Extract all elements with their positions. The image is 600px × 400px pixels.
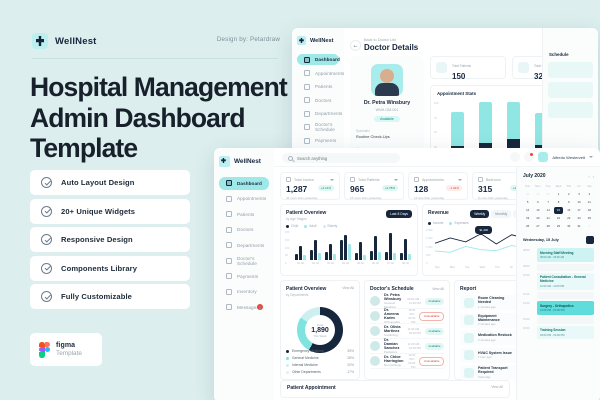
toggle-monthly[interactable]: Monthly	[491, 210, 511, 218]
toggle-weekly[interactable]: Weekly	[470, 210, 489, 218]
breadcrumb[interactable]: Back to Doctor List	[364, 38, 418, 42]
chevron-down-icon[interactable]	[458, 179, 462, 181]
feature-item-2: Responsive Design	[30, 227, 190, 252]
event-title: Patient Consultation - General Medicine	[540, 275, 591, 283]
weekday-label: Sat	[585, 183, 594, 190]
wellnest-logo-icon	[297, 36, 306, 45]
kpi-value: 965	[350, 184, 364, 194]
doctor-specialty: Specialist Routine Check-Ups	[356, 129, 418, 140]
wrench-icon	[464, 315, 474, 325]
calendar-day[interactable]: 30	[564, 223, 573, 230]
doctor-avatar	[371, 64, 403, 96]
calendar-day[interactable]: 16	[564, 207, 573, 214]
schedule-rail-item[interactable]	[548, 102, 593, 118]
doctor-name: Dr. Ameena Karim	[384, 308, 400, 320]
panel-subtitle: by Age Stages	[286, 217, 326, 221]
bar-adult	[299, 246, 302, 260]
schedule-row[interactable]: Dr. Olivia Martinez Cardiology 11:00 AM …	[370, 324, 444, 339]
calendar-day[interactable]: 8	[554, 199, 563, 206]
stethoscope-icon	[304, 97, 310, 103]
axis-tick: Thu	[495, 266, 499, 269]
view-all-link[interactable]: View All	[432, 287, 444, 291]
specialty-value: Routine Check-Ups	[356, 134, 418, 140]
schedule-time: 11:00 AM - 01:00 PM	[407, 342, 421, 350]
bar-group: 02 Jul	[310, 226, 321, 265]
clipboard-icon	[518, 62, 529, 73]
clock-icon	[226, 258, 232, 264]
sidebar-item-label: Departments	[315, 111, 342, 116]
revenue-line-area: SunMonTueWedThuFriSat $1,400	[435, 227, 527, 265]
report-time: 3 minutes ago	[478, 338, 512, 342]
kpi-label: Total Invoice	[294, 178, 314, 182]
calendar-day[interactable]: 10	[574, 199, 583, 206]
bar-elderly	[363, 255, 366, 260]
sidebar-item-label: Doctors	[237, 227, 254, 232]
timeline-time: 09:00	[523, 264, 534, 268]
users-icon	[304, 84, 310, 90]
event-title: Surgery - Orthopedics	[540, 304, 591, 308]
feature-item-1: 20+ Unique Widgets	[30, 199, 190, 224]
figma-template-badge[interactable]: figma Template	[30, 333, 102, 366]
sidebar-item-label: Messages	[237, 305, 259, 310]
schedule-time: 09:00 AM - 12:00 PM	[407, 297, 421, 305]
calendar-event[interactable]: Surgery - Orthopedics 12:00 PM - 01:00 P…	[537, 301, 594, 315]
avatar	[370, 356, 380, 366]
panel-title: Patient Overview	[286, 210, 326, 216]
stat-card-total-patients: Total Patients 150	[430, 56, 506, 79]
slice-name: Internal Medicine	[292, 363, 318, 367]
bar-label: 07 Jul	[387, 262, 394, 265]
slice-name: General Medicine	[292, 356, 319, 360]
kpi-trend-badge: +3.78%	[382, 185, 398, 191]
event-time: 02:00 PM - 03:00 PM	[540, 334, 591, 337]
avatar	[370, 326, 380, 336]
bar-adult	[344, 235, 347, 261]
report-time: Yesterday	[478, 375, 516, 379]
bar-label: 02 Jul	[312, 262, 319, 265]
event-title: Morning Staff Meeting	[540, 251, 591, 255]
sidebar-item-doctors[interactable]: Doctors	[219, 224, 269, 237]
bar-group: 05 Jul	[355, 226, 366, 265]
calendar-day[interactable]: 2	[564, 191, 573, 198]
bar-group: 06 Jul	[370, 226, 381, 265]
chevron-down-icon[interactable]	[394, 179, 398, 181]
avatar	[370, 296, 380, 306]
avatar[interactable]	[538, 152, 548, 162]
timeline-row: 12:00 Surgery - Orthopedics 12:00 PM - 0…	[523, 301, 594, 315]
doctor-name: Dr. Petra Winsbury	[384, 293, 403, 301]
legend-item: Expenses	[449, 221, 468, 225]
event-timeline: 08:00 Morning Staff Meeting 08:00 AM - 0…	[523, 248, 594, 339]
panel-title: Doctor's Schedule	[370, 286, 414, 292]
doctor-details-title: Doctor Details	[364, 43, 418, 52]
calendar-event[interactable]	[537, 292, 594, 299]
bar-label: 05 Jul	[357, 262, 364, 265]
doctor-name: Dr. Damian Sanchez	[384, 338, 403, 350]
add-event-icon[interactable]	[586, 236, 594, 244]
sidebar-item-label: Dashboard	[315, 57, 340, 62]
calendar-event[interactable]	[537, 317, 594, 324]
timeline-time: 12:00	[523, 301, 534, 305]
feature-label: 20+ Unique Widgets	[61, 207, 135, 216]
donut-legend-row: General Medicine 28%	[286, 356, 354, 360]
calendar-day[interactable]: 24	[574, 215, 583, 222]
calendar-day[interactable]: 19	[523, 215, 532, 222]
doctor-name: Dr. Olivia Martinez	[384, 325, 402, 333]
kpi-trend-badge: -1.04%	[446, 185, 462, 191]
topbar: Alfredo Westervelt	[274, 148, 600, 167]
transport-icon	[464, 368, 474, 378]
sidebar-item-departments[interactable]: Departments	[297, 108, 339, 119]
status-badge: Available	[425, 328, 444, 335]
bar-group: 08 Jul	[400, 226, 411, 265]
search-icon	[288, 156, 293, 161]
weekday-label: Fri	[574, 183, 583, 190]
sidebar-item-departments[interactable]: Departments	[219, 239, 269, 252]
panel-subtitle: by Departments	[286, 293, 326, 297]
panel-title: Revenue	[428, 210, 449, 216]
sidebar-item-label: Dashboard	[237, 181, 262, 186]
weekday-label: Tue	[544, 183, 553, 190]
sidebar-item-patients[interactable]: Patients	[219, 208, 269, 221]
kpi-label: Bedroom	[486, 178, 501, 182]
calendar-day[interactable]: 21	[544, 215, 553, 222]
bar-group: 07 Jul	[385, 226, 396, 265]
dashboard-sidebar: WellNest Dashboard Appointments Patients…	[214, 148, 274, 400]
schedule-rail-title: Schedule	[549, 52, 598, 57]
sidebar-item-label: Appointments	[237, 196, 266, 201]
grid-icon	[304, 57, 310, 63]
bar-elderly	[333, 254, 336, 260]
view-all-link[interactable]: View All	[342, 286, 354, 290]
calendar-icon	[304, 70, 310, 76]
calendar-day[interactable]: 4	[585, 191, 594, 198]
chevron-down-icon[interactable]	[330, 179, 334, 181]
bar-elderly	[408, 254, 411, 260]
user-name: Alfredo Westervelt	[552, 155, 585, 160]
box-icon	[226, 289, 232, 295]
avatar	[370, 311, 380, 321]
schedule-row[interactable]: Dr. Damian Sanchez Pediatrics 11:00 AM -…	[370, 339, 444, 354]
sidebar-item-doctors[interactable]: Doctors	[297, 95, 339, 106]
calendar-day[interactable]: 15	[554, 207, 563, 214]
calendar-day[interactable]: 9	[564, 199, 573, 206]
status-badge: Unavailable	[419, 312, 444, 321]
calendar-day[interactable]: 26	[523, 223, 532, 230]
calendar-day[interactable]: 5	[523, 199, 532, 206]
patient-appointment-section: Patient Appointment View All	[280, 380, 510, 398]
wellnest-logo-icon	[32, 33, 48, 49]
grid-icon	[226, 180, 232, 186]
timeline-row: 01:00	[523, 317, 594, 324]
report-title: Medication Restock	[478, 333, 512, 337]
timeline-row: 08:00 Morning Staff Meeting 08:00 AM - 0…	[523, 248, 594, 262]
status-badge: Available	[425, 343, 444, 350]
doctor-name: Dr. Petra Winsbury	[350, 100, 424, 106]
calendar-event[interactable]: Training Session 02:00 PM - 03:00 PM	[537, 326, 594, 340]
sidebar-item-doctor-s-schedule[interactable]: Doctor's Schedule	[297, 122, 339, 133]
kpi-card-2: Appointments 128 -1.04% 12 less than yes…	[408, 172, 468, 200]
status-badge: Available	[425, 298, 444, 305]
stat-label: Total Patients	[452, 64, 471, 68]
check-circle-icon	[41, 291, 52, 302]
figma-title: figma	[56, 342, 82, 349]
axis-tick: Wed	[480, 266, 485, 269]
bar-elderly	[393, 253, 396, 260]
schedule-rail-item[interactable]	[548, 62, 593, 78]
donut-center-sub: This Week	[311, 334, 329, 338]
sidebar-item-appointments[interactable]: Appointments	[297, 68, 339, 79]
calendar-day[interactable]: 27	[533, 223, 542, 230]
card-icon	[304, 138, 310, 144]
view-all-link[interactable]: View All	[491, 385, 503, 389]
next-month-icon[interactable]: ›	[593, 174, 594, 179]
bar-child	[370, 251, 373, 260]
specialty-label: Specialist	[356, 129, 418, 133]
axis-tick: Sun	[435, 266, 440, 269]
calendar-event[interactable]	[537, 264, 594, 271]
kpi-label: Total Patients	[358, 178, 380, 182]
brand-name: WellNest	[55, 36, 97, 47]
sidebar-item-messages[interactable]: Messages 3	[219, 301, 269, 314]
calendar-day[interactable]: 1	[585, 223, 594, 230]
bar-label: 08 Jul	[402, 262, 409, 265]
calendar-day[interactable]: 28	[544, 223, 553, 230]
slice-pct: 28%	[347, 356, 354, 360]
calendar-day[interactable]: 6	[533, 199, 542, 206]
sidebar-item-appointments[interactable]: Appointments	[219, 193, 269, 206]
axis-tick: Fri	[510, 266, 513, 269]
kpi-icon	[350, 177, 355, 182]
back-button[interactable]: ←	[350, 40, 361, 51]
sidebar-item-label: Payments	[237, 274, 258, 279]
schedule-row[interactable]: Dr. Chloe Harrington Dermatology 12:00 P…	[370, 354, 444, 369]
kpi-icon	[286, 177, 291, 182]
slice-pct: 20%	[347, 363, 354, 367]
weekday-label: Mon	[533, 183, 542, 190]
feature-item-3: Components Library	[30, 256, 190, 281]
timeline-row: 09:00	[523, 264, 594, 271]
sidebar-item-payments[interactable]: Payments	[297, 135, 339, 146]
bar-child	[355, 253, 358, 260]
search-input[interactable]	[297, 156, 387, 161]
event-title: Training Session	[540, 328, 591, 332]
calendar-event[interactable]: Morning Staff Meeting 08:00 AM - 09:00 A…	[537, 248, 594, 262]
divider	[32, 58, 278, 59]
feature-label: Responsive Design	[61, 235, 133, 244]
bar-group: 03 Jul	[325, 226, 336, 265]
bar-child	[310, 250, 313, 260]
bar-child	[295, 254, 298, 260]
calendar-day[interactable]: 1	[554, 191, 563, 198]
bar-adult	[374, 236, 377, 260]
calendar-day[interactable]: 12	[523, 207, 532, 214]
avatar	[370, 341, 380, 351]
bar-elderly	[348, 244, 351, 260]
figma-subtitle: Template	[56, 350, 82, 357]
calendar-day[interactable]: 22	[554, 215, 563, 222]
building-icon	[226, 242, 232, 248]
check-circle-icon	[41, 177, 52, 188]
report-title: Patient Transport Required	[478, 366, 516, 374]
doctor-dept: Dermatology	[384, 363, 403, 367]
calendar-day[interactable]: 3	[574, 191, 583, 198]
bar-label: 04 Jul	[342, 262, 349, 265]
kpi-sub: 15 more than yesterday	[350, 196, 398, 200]
doctor-dept: Cardiology	[384, 333, 402, 337]
calendar-day-header: Wednesday, 15 July	[523, 236, 594, 244]
calendar-day[interactable]: 11	[585, 199, 594, 206]
sidebar-item-inventory[interactable]: Inventory	[219, 286, 269, 299]
building-icon	[304, 111, 310, 117]
kpi-sub: 45 more than yesterday	[286, 196, 334, 200]
schedule-time: 11:00 AM - 02:00 PM	[406, 327, 421, 335]
timeline-row: 02:00 Training Session 02:00 PM - 03:00 …	[523, 326, 594, 340]
timeline-time: 08:00	[523, 248, 534, 252]
bar-child	[325, 252, 328, 260]
legend-item: Income	[428, 221, 443, 225]
sidebar-brand: WellNest	[310, 38, 334, 44]
event-time: 08:00 AM - 09:00 AM	[540, 256, 591, 259]
prev-month-icon[interactable]: ‹	[588, 174, 589, 179]
bar-adult	[329, 244, 332, 260]
kpi-card-1: Total Patients 965 +3.78% 15 more than y…	[344, 172, 404, 200]
chart-annotation: $1,400	[475, 226, 492, 234]
calendar-day[interactable]: 17	[574, 207, 583, 214]
search-box[interactable]	[282, 153, 400, 163]
panel-title: Patient Appointment	[287, 385, 336, 391]
doctor-dept: Orthopedics	[384, 320, 400, 324]
timeline-time: 10:00	[523, 273, 534, 277]
bar-label: 03 Jul	[327, 262, 334, 265]
schedule-time: 12:00 PM - 03:00 PM	[407, 353, 415, 369]
calendar-header: July 2020 ‹ ›	[523, 173, 594, 179]
report-time: 1 minutes ago	[478, 305, 516, 309]
timeline-time: 02:00	[523, 326, 534, 330]
broom-icon	[464, 298, 474, 308]
bar-group: 04 Jul	[340, 226, 351, 265]
slice-name: Other Departments	[292, 370, 321, 374]
doctors-schedule-panel: Doctor's Schedule View All Dr. Petra Win…	[364, 280, 450, 380]
bar-label: 01 Jul	[297, 262, 304, 265]
bar-elderly	[318, 253, 321, 260]
calendar-month: July 2020	[523, 173, 546, 179]
chevron-down-icon[interactable]	[589, 156, 593, 158]
doctor-details-header: Back to Doctor List Doctor Details	[364, 38, 418, 52]
slice-name: Emergency Medicine	[292, 349, 324, 353]
kpi-icon	[414, 177, 419, 182]
bar-child	[340, 240, 343, 260]
sidebar-item-dashboard[interactable]: Dashboard	[219, 177, 269, 190]
bar-new-patient	[451, 112, 464, 146]
schedule-row[interactable]: Dr. Petra Winsbury General Medicine 09:0…	[370, 294, 444, 309]
dashboard-mockup: WellNest Dashboard Appointments Patients…	[214, 148, 600, 400]
promo-stage: WellNest Design by: Petardraw Hospital M…	[0, 0, 600, 400]
range-dropdown[interactable]: Last 8 Days	[386, 210, 412, 218]
calendar-day[interactable]: 25	[585, 215, 594, 222]
sidebar-item-patients[interactable]: Patients	[297, 81, 339, 92]
schedule-rail-item[interactable]	[548, 82, 593, 98]
donut-legend-row: Emergency Medicine 35%	[286, 349, 354, 353]
sidebar-item-doctor-s-schedule[interactable]: Doctor's Schedule	[219, 255, 269, 268]
bar-new-patient	[479, 102, 492, 143]
sidebar-item-payments[interactable]: Payments	[219, 270, 269, 283]
sidebar-brand: WellNest	[234, 158, 261, 165]
stethoscope-icon	[226, 227, 232, 233]
donut-legend-row: Other Departments 17%	[286, 370, 354, 374]
calendar-day[interactable]: 14	[544, 207, 553, 214]
report-title: HVAC System Issue	[478, 351, 512, 355]
feature-label: Auto Layout Design	[61, 178, 135, 187]
kpi-value: 315	[478, 184, 492, 194]
sidebar-item-dashboard[interactable]: Dashboard	[297, 54, 339, 65]
doctor-id: WNH-GM-001	[350, 108, 424, 112]
selected-day-title: Wednesday, 15 July	[523, 238, 559, 242]
calendar-day[interactable]: 28	[523, 191, 532, 198]
schedule-time: 10:00 AM - 01:00 PM	[404, 308, 415, 324]
bar-adult	[314, 240, 317, 260]
message-badge: 3	[257, 304, 263, 310]
doctor-dept: Pediatrics	[384, 350, 403, 354]
feature-label: Fully Customizable	[61, 292, 132, 301]
panel-title: Report	[460, 286, 476, 292]
timeline-row: 11:00	[523, 292, 594, 299]
report-title: Room Cleaning Needed	[478, 296, 516, 304]
calendar-day[interactable]: 7	[544, 199, 553, 206]
kpi-trend-badge: +2.14%	[318, 185, 334, 191]
report-time: 1 hour ago	[478, 355, 512, 359]
card-icon	[226, 273, 232, 279]
weekday-label: Wed	[554, 183, 563, 190]
calendar-day[interactable]: 31	[574, 223, 583, 230]
patient-overview-bar-panel: Patient Overview by Age Stages Last 8 Da…	[280, 204, 418, 276]
bar-new-patient	[507, 102, 520, 139]
patient-overview-donut-panel: Patient Overview by Departments View All…	[280, 280, 360, 380]
feature-item-0: Auto Layout Design	[30, 170, 190, 195]
doctor-status-badge: Available	[374, 116, 400, 122]
bar-label: 06 Jul	[372, 262, 379, 265]
calendar-event[interactable]: Patient Consultation - General Medicine …	[537, 273, 594, 291]
calendar-day[interactable]: 30	[544, 191, 553, 198]
calendar-day[interactable]: 20	[533, 215, 542, 222]
timeline-time: 11:00	[523, 292, 534, 296]
calendar-day[interactable]: 29	[533, 191, 542, 198]
calendar-day[interactable]: 23	[564, 215, 573, 222]
topbar-actions: Alfredo Westervelt	[510, 152, 593, 162]
sidebar-item-label: Doctor's Schedule	[315, 122, 339, 132]
settings-icon[interactable]	[510, 152, 520, 162]
bar-group: 01 Jul	[295, 226, 306, 265]
calendar-day[interactable]: 29	[554, 223, 563, 230]
bell-icon[interactable]	[524, 152, 534, 162]
bar-child	[385, 252, 388, 260]
sidebar-item-label: Patients	[315, 84, 332, 89]
calendar-day[interactable]: 18	[585, 207, 594, 214]
sidebar-item-label: Appointments	[315, 71, 344, 76]
calendar-grid[interactable]: SunMonTueWedThuFriSat2829301234567891011…	[523, 183, 594, 230]
chart-y-axis: 2,0001,5001,0005000	[426, 229, 433, 265]
event-time: 12:00 PM - 01:00 PM	[540, 309, 591, 312]
sidebar-logo: WellNest	[219, 156, 269, 167]
schedule-row[interactable]: Dr. Ameena Karim Orthopedics 10:00 AM - …	[370, 309, 444, 324]
bar-elderly	[303, 255, 306, 260]
bar-elderly	[378, 252, 381, 260]
status-badge: Unavailable	[419, 357, 444, 366]
sidebar-item-label: Departments	[237, 243, 264, 248]
kpi-icon	[478, 177, 483, 182]
clock-icon	[304, 124, 310, 130]
calendar-day[interactable]: 13	[533, 207, 542, 214]
